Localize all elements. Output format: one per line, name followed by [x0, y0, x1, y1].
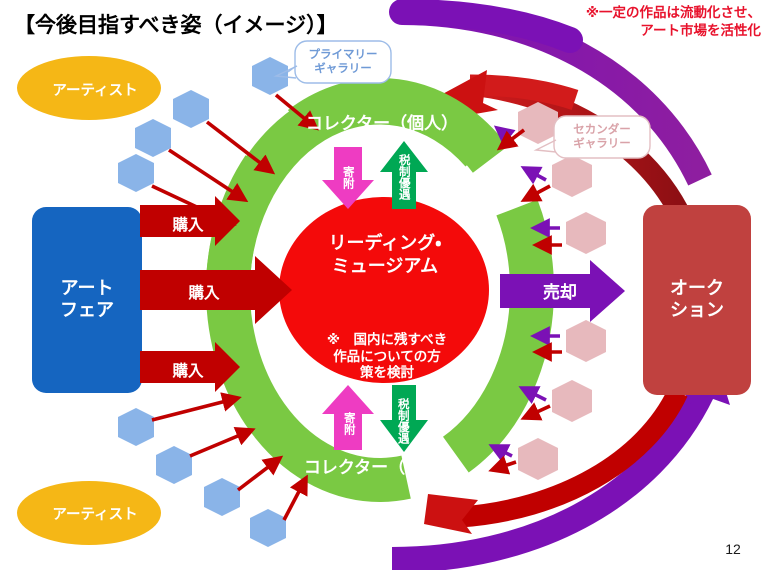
top-right-note-line1: ※一定の作品は流動化させ、: [546, 4, 761, 22]
leading-museum-shape: [279, 197, 489, 383]
page-title-text: 【今後目指すべき姿（イメージ）】: [14, 9, 338, 39]
artist-bottom-shape: [17, 481, 161, 545]
hexagon-blue: [204, 478, 240, 516]
hexagon-pink: [552, 380, 592, 422]
hexagon-blue: [156, 446, 192, 484]
artist-top-shape: [17, 56, 161, 120]
slide-canvas: 【今後目指すべき姿（イメージ）】 ※一定の作品は流動化させ、 アート市場を活性化…: [0, 0, 763, 570]
secondary-gallery-label-line1: セカンダー: [573, 123, 631, 137]
donation-arrow-top-label: 寄附: [337, 152, 359, 202]
page-title: 【今後目指すべき姿（イメージ）】: [14, 8, 434, 40]
secondary-gallery-label: セカンダー ギャラリー: [556, 119, 648, 155]
hexagon-blue: [173, 90, 209, 128]
secondary-gallery-label-line2: ギャラリー: [573, 137, 631, 151]
hexagon-pink: [518, 438, 558, 480]
top-right-note-line2: アート市場を活性化: [546, 22, 761, 40]
tax-arrow-top-label: 税制優遇: [393, 148, 415, 206]
hexagon-blue: [250, 509, 286, 547]
top-right-note: ※一定の作品は流動化させ、 アート市場を活性化: [546, 4, 761, 40]
hexagon-blue: [135, 119, 171, 157]
primary-gallery-label: プライマリー ギャラリー: [297, 44, 389, 80]
hexagon-blue: [118, 154, 154, 192]
hexagon-pink: [552, 155, 592, 197]
hexagon-pink: [566, 212, 606, 254]
donation-arrow-bottom-label: 寄附: [338, 398, 360, 448]
tax-arrow-bottom-label: 税制優遇: [392, 392, 414, 450]
primary-gallery-label-line1: プライマリー: [309, 48, 378, 62]
auction-shape: [643, 205, 751, 395]
hexagon-blue: [118, 408, 154, 446]
art-fair-shape: [32, 207, 142, 393]
diagram-svg: [0, 0, 763, 570]
page-number: 12: [716, 541, 750, 557]
primary-gallery-label-line2: ギャラリー: [314, 62, 372, 76]
hexagon-pink: [566, 320, 606, 362]
